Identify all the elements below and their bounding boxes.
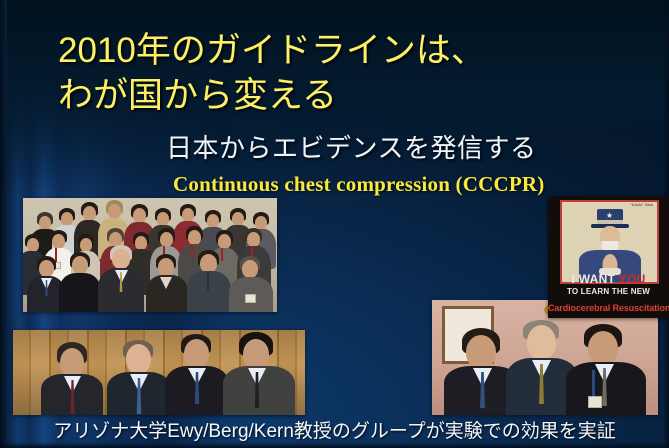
poster-topic-label: Cardiocerebral Resuscitation xyxy=(548,303,669,313)
poster-subheadline: TO LEARN THE NEW xyxy=(548,287,669,296)
hat-star-icon: ★ xyxy=(606,212,613,220)
slide-title-line-2: わが国から変える xyxy=(58,73,618,118)
background-left-edge xyxy=(0,0,7,448)
uncle-sam-poster: "Uncle" Sam ★ I WANT YOU TO LEARN THE NE… xyxy=(548,196,669,318)
slide-caption: アリゾナ大学Ewy/Berg/Kern教授のグループが実験での効果を実証 xyxy=(0,420,669,444)
slide-subtitle: 日本からエビデンスを発信する xyxy=(166,132,536,164)
slide-title-line-1: 2010年のガイドラインは、 xyxy=(58,28,618,73)
four-men-photo xyxy=(13,330,305,415)
poster-headline: I WANT YOU xyxy=(548,272,669,286)
group-photo xyxy=(23,198,277,312)
poster-top-caption: "Uncle" Sam xyxy=(630,203,653,207)
slide-tagline: Continuous chest compression (CCCPR) xyxy=(173,172,544,196)
slide-title: 2010年のガイドラインは、 わが国から変える xyxy=(58,28,618,118)
poster-headline-prefix: I WANT xyxy=(571,272,618,286)
poster-headline-highlight: YOU xyxy=(619,272,646,286)
presentation-slide: 2010年のガイドラインは、 わが国から変える 日本からエビデンスを発信する C… xyxy=(0,0,669,448)
